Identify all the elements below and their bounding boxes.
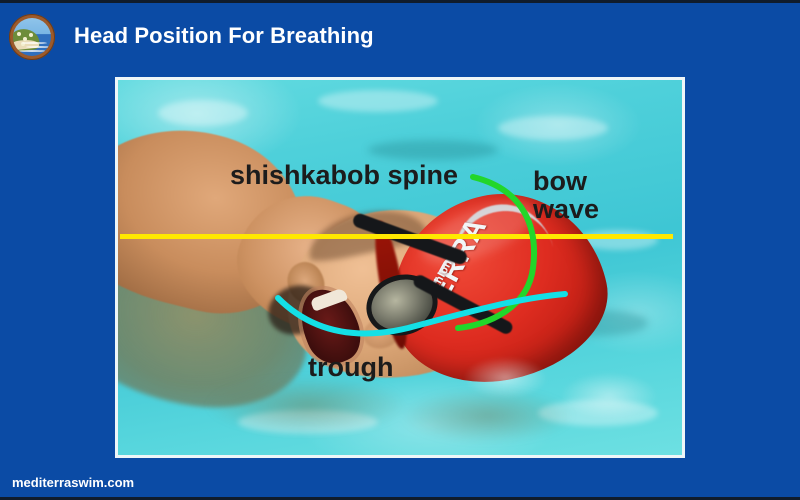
swimmer-photo: ERRA triathlon shishkabob spine bow wave… — [118, 80, 682, 455]
annotation-layer: shishkabob spine bow wave trough — [118, 80, 682, 455]
trough-curve — [278, 294, 565, 333]
logo-scene — [13, 18, 51, 56]
mediterra-swim-logo-icon — [9, 14, 55, 60]
slide: Head Position For Breathing — [0, 0, 800, 500]
annotation-label-shishkabob-spine: shishkabob spine — [230, 162, 458, 190]
curve-annotations — [118, 80, 682, 455]
logo-wave-line — [18, 50, 46, 52]
annotation-label-bow-wave: bow wave — [533, 168, 599, 223]
logo-tree-icon — [23, 37, 27, 41]
page-title: Head Position For Breathing — [74, 23, 374, 49]
website-footer: mediterraswim.com — [12, 475, 134, 490]
logo-tree-icon — [17, 32, 21, 36]
photo-frame: ERRA triathlon shishkabob spine bow wave… — [115, 77, 685, 458]
logo-tree-icon — [29, 33, 33, 37]
slide-header: Head Position For Breathing — [0, 3, 800, 69]
logo-wave-line — [21, 42, 47, 44]
logo-wave-line — [26, 46, 50, 48]
annotation-label-trough: trough — [308, 354, 393, 382]
